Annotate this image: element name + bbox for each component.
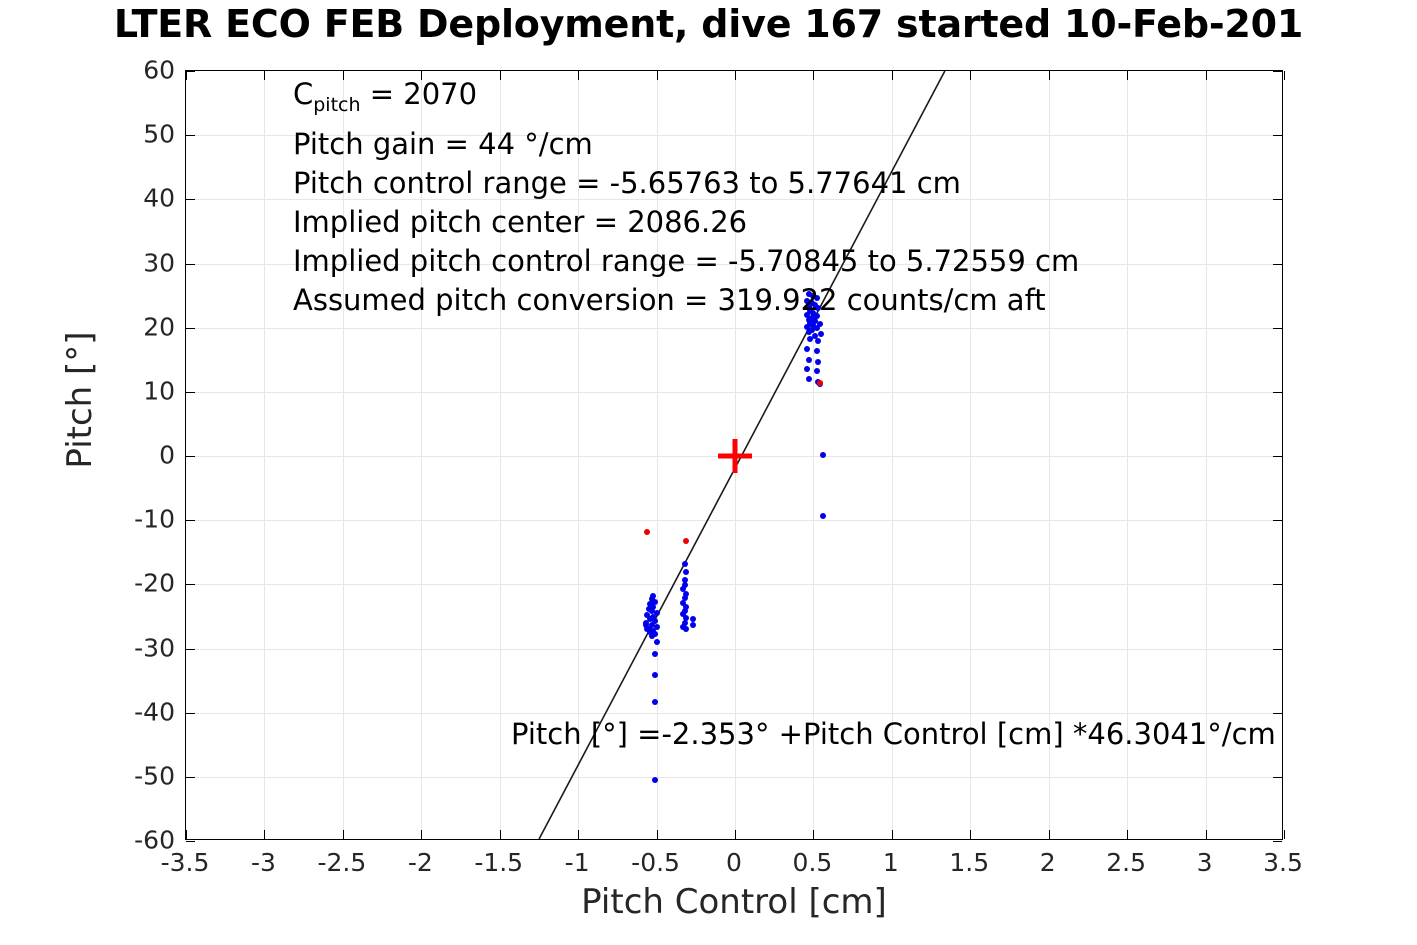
x-tick-label: -2 — [408, 848, 433, 877]
x-tick-label: 2.5 — [1106, 848, 1146, 877]
page-title: LTER ECO FEB Deployment, dive 167 starte… — [0, 2, 1417, 46]
y-axis-tick — [1273, 841, 1282, 842]
y-tick-label: 20 — [75, 312, 175, 341]
x-tick-label: 1.5 — [949, 848, 989, 877]
x-tick-label: -3 — [251, 848, 276, 877]
y-tick-label: -60 — [75, 826, 175, 855]
x-tick-label: 1 — [883, 848, 899, 877]
y-tick-label: 0 — [75, 441, 175, 470]
y-tick-label: 50 — [75, 120, 175, 149]
annotation-line-pitch-gain: Pitch gain = 44 °/cm — [293, 125, 1079, 164]
x-tick-label: -2.5 — [317, 848, 366, 877]
cpitch-symbol: C — [293, 77, 313, 111]
y-tick-label: -20 — [75, 569, 175, 598]
parameter-annotation-block: Cpitch = 2070 Pitch gain = 44 °/cm Pitch… — [293, 75, 1079, 320]
y-axis-tick — [186, 841, 195, 842]
x-tick-label: 0 — [726, 848, 742, 877]
x-tick-label: 3.5 — [1263, 848, 1303, 877]
cpitch-value: = 2070 — [361, 77, 478, 111]
annotation-line-assumed-pitch-conversion: Assumed pitch conversion = 319.922 count… — [293, 281, 1079, 320]
annotation-line-cpitch: Cpitch = 2070 — [293, 75, 1079, 125]
y-tick-label: -30 — [75, 633, 175, 662]
x-axis-tick — [1284, 830, 1285, 839]
y-tick-label: -50 — [75, 761, 175, 790]
fit-equation-label: Pitch [°] =-2.353° +Pitch Control [cm] *… — [511, 717, 1276, 751]
annotation-layer: Cpitch = 2070 Pitch gain = 44 °/cm Pitch… — [186, 71, 1282, 839]
annotation-line-pitch-control-range: Pitch control range = -5.65763 to 5.7764… — [293, 164, 1079, 203]
y-tick-label: 60 — [75, 56, 175, 85]
x-tick-label: -1.5 — [474, 848, 523, 877]
x-axis-tick — [1284, 71, 1285, 80]
plot-area: Cpitch = 2070 Pitch gain = 44 °/cm Pitch… — [185, 70, 1283, 840]
y-tick-label: -10 — [75, 505, 175, 534]
y-tick-label: 10 — [75, 376, 175, 405]
annotation-line-implied-pitch-control-range: Implied pitch control range = -5.70845 t… — [293, 242, 1079, 281]
x-axis-label: Pitch Control [cm] — [185, 882, 1283, 922]
x-tick-label: -0.5 — [631, 848, 680, 877]
x-tick-label: -1 — [565, 848, 590, 877]
cpitch-subscript: pitch — [313, 94, 360, 116]
x-tick-label: 2 — [1040, 848, 1056, 877]
y-tick-label: 30 — [75, 248, 175, 277]
x-tick-label: 3 — [1197, 848, 1213, 877]
x-tick-label: 0.5 — [793, 848, 833, 877]
y-tick-label: 40 — [75, 184, 175, 213]
annotation-line-implied-pitch-center: Implied pitch center = 2086.26 — [293, 203, 1079, 242]
y-tick-label: -40 — [75, 697, 175, 726]
